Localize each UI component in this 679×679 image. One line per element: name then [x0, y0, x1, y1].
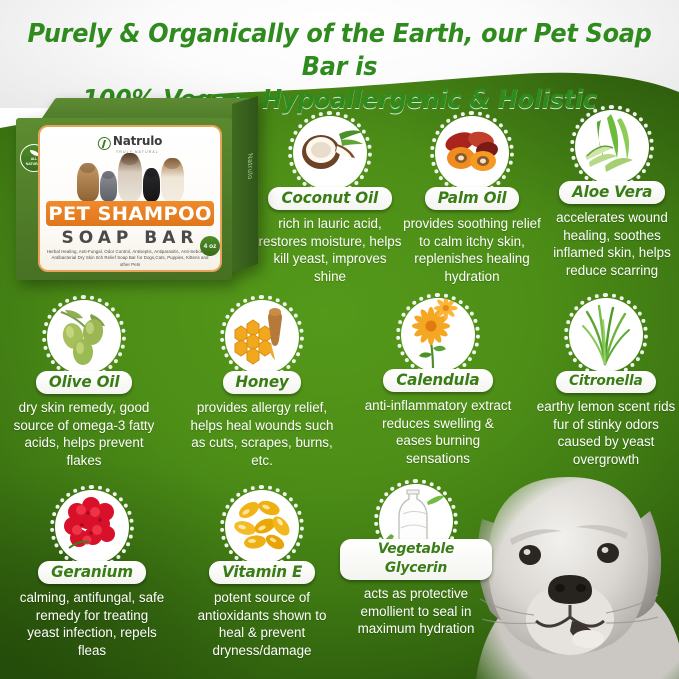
ingredient-label: Olive Oil [36, 371, 132, 394]
ingredient-name: Aloe Vera [572, 182, 652, 201]
aloe-icon-wrap [575, 110, 649, 184]
ingredient-olive-oil: Olive Oil dry skin remedy, good source o… [8, 300, 160, 469]
infographic-root: Purely & Organically of the Earth, our P… [0, 0, 679, 679]
dotted-ring [430, 111, 514, 195]
spaniel-photo [118, 153, 142, 201]
dotted-ring [564, 293, 648, 377]
ingredient-palm-oil: Palm Oil provides soothing relief to cal… [396, 116, 548, 285]
ingredient-label: Honey [223, 371, 301, 394]
headline-line-1: Purely & Organically of the Earth, our P… [27, 19, 651, 82]
ingredient-honey: Honey provides allergy relief, helps hea… [186, 300, 338, 469]
dotted-ring [50, 485, 134, 569]
ingredient-description: potent source of antioxidants shown to h… [186, 589, 338, 659]
box-side-face: Natrulo [232, 96, 258, 272]
bulldog-photo [77, 163, 99, 201]
box-label-card: Natrulo TRULY NATURAL PET SHAMPOO SOAP B… [38, 125, 222, 272]
ingredient-label: Calendula [383, 369, 493, 392]
ingredient-label: Aloe Vera [559, 181, 665, 204]
ingredient-label: Vitamin E [209, 561, 315, 584]
ingredient-description: anti-inflammatory extract reduces swelli… [362, 397, 514, 467]
ingredient-label: Vegetable Glycerin [340, 539, 492, 580]
coconut-icon-wrap [293, 116, 367, 190]
ingredient-name: Olive Oil [49, 372, 119, 391]
product-title-secondary: SOAP BAR [40, 228, 220, 248]
ingredient-description: calming, antifungal, safe remedy for tre… [16, 589, 168, 659]
brand-name: Natrulo [113, 134, 162, 148]
citronella-icon-wrap [569, 298, 643, 372]
ingredient-label: Citronella [556, 371, 656, 393]
ingredient-aloe-vera: Aloe Vera accelerates wound healing, soo… [536, 110, 679, 279]
dotted-ring [42, 295, 126, 379]
ingredient-description: rich in lauric acid, restores moisture, … [254, 215, 406, 285]
ingredient-label: Geranium [38, 561, 146, 584]
pets-photo-group [50, 149, 210, 201]
dotted-ring [288, 111, 372, 195]
ingredient-name: Vitamin E [222, 562, 302, 581]
ingredient-description: earthy lemon scent rids fur of stinky od… [530, 398, 679, 468]
beagle-photo [161, 158, 184, 201]
dotted-ring [220, 485, 304, 569]
ingredient-label: Palm Oil [425, 187, 519, 210]
box-side-brand: Natrulo [246, 153, 253, 181]
size-badge: 4 oz [200, 236, 220, 256]
ingredient-vitamin-e: Vitamin E potent source of antioxidants … [186, 490, 338, 659]
dog-photo [464, 467, 679, 679]
ingredient-name: Palm Oil [438, 188, 507, 207]
product-title-primary: PET SHAMPOO [46, 201, 214, 226]
palm-icon-wrap [435, 116, 509, 190]
honey-icon-wrap [225, 300, 299, 374]
ingredient-name: Calendula [396, 370, 479, 389]
ingredient-name: Geranium [51, 562, 133, 581]
box-front-face: ALL NATURAL Natrulo TRULY NATURAL [16, 118, 232, 280]
ingredient-description: provides allergy relief, helps heal woun… [186, 399, 338, 469]
product-box-image: Natrulo ALL NATURAL Natrulo TRULY NATURA… [16, 98, 258, 280]
ingredient-citronella: Citronella earthy lemon scent rids fur o… [530, 298, 679, 468]
ingredient-description: provides soothing relief to calm itchy s… [396, 215, 548, 285]
dotted-ring [220, 295, 304, 379]
ingredient-description: dry skin remedy, good source of omega-3 … [8, 399, 160, 469]
ingredient-coconut-oil: Coconut Oil rich in lauric acid, restore… [254, 116, 406, 285]
dotted-ring [396, 293, 480, 377]
ingredient-name: Vegetable Glycerin [354, 540, 478, 578]
geranium-icon-wrap [55, 490, 129, 564]
grey-cat-photo [100, 171, 117, 201]
ingredient-vegetable-glycerin: Vegetable Glycerin acts as protective em… [340, 484, 492, 638]
ingredient-geranium: Geranium calming, antifungal, safe remed… [16, 490, 168, 659]
ingredient-label: Coconut Oil [268, 187, 392, 210]
ingredient-description: accelerates wound healing, soothes infla… [536, 209, 679, 279]
ingredient-name: Citronella [569, 372, 643, 391]
dotted-ring [570, 105, 654, 189]
black-cat-photo [143, 168, 160, 201]
product-fineprint: Herbal Healing, Anti-Fungal, Odor Contro… [46, 249, 214, 268]
golden-retriever-illustration [464, 467, 679, 679]
olive-icon-wrap [47, 300, 121, 374]
ingredient-name: Coconut Oil [282, 188, 379, 207]
calendula-icon-wrap [401, 298, 475, 372]
ingredient-description: acts as protective emollient to seal in … [340, 585, 492, 638]
product-title-primary-text: PET SHAMPOO [48, 203, 212, 225]
vitamin-e-icon-wrap [225, 490, 299, 564]
ingredient-calendula: Calendula anti-inflammatory extract redu… [362, 298, 514, 467]
ingredient-name: Honey [235, 372, 288, 391]
